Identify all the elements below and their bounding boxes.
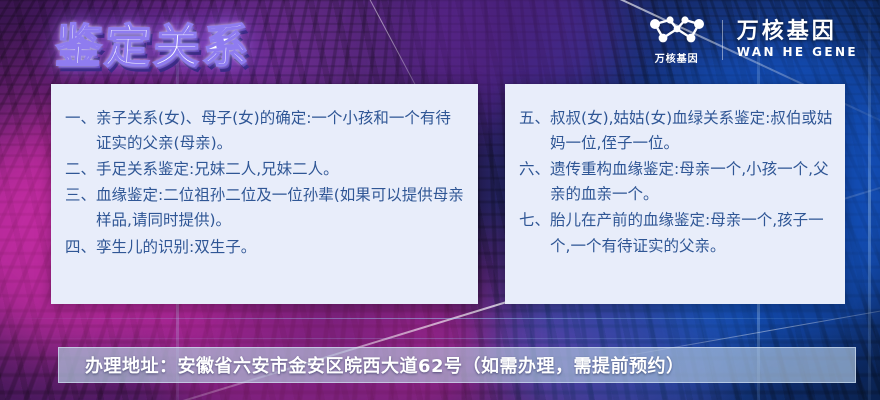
list-item-text: 血缘鉴定:二位祖孙二位及一位孙辈(如果可以提供母亲样品,请同时提供)。 — [96, 183, 466, 233]
light-beam-vertical-3 — [868, 0, 871, 400]
list-item-text: 孪生儿的识别:双生子。 — [96, 235, 466, 260]
list-item-number: 四、 — [65, 235, 96, 260]
list-item-number: 二、 — [65, 157, 96, 182]
list-item-text: 亲子关系(女)、母子(女)的确定:一个小孩和一个有待证实的父亲(母亲)。 — [96, 106, 466, 156]
list-item-text: 遗传重构血缘鉴定:母亲一个,小孩一个,父亲的血亲一个。 — [550, 157, 833, 207]
brand-mark: 万核基因 — [646, 14, 708, 65]
list-item: 一、 亲子关系(女)、母子(女)的确定:一个小孩和一个有待证实的父亲(母亲)。 — [65, 106, 466, 156]
relationship-list-left: 一、 亲子关系(女)、母子(女)的确定:一个小孩和一个有待证实的父亲(母亲)。 … — [65, 106, 466, 260]
molecule-network-icon — [646, 14, 708, 48]
list-item: 三、 血缘鉴定:二位祖孙二位及一位孙辈(如果可以提供母亲样品,请同时提供)。 — [65, 183, 466, 233]
poster-canvas: 鉴定关系 — [0, 0, 880, 400]
list-item-text: 手足关系鉴定:兄妹二人,兄妹二人。 — [96, 157, 466, 182]
list-item: 四、 孪生儿的识别:双生子。 — [65, 235, 466, 260]
list-item: 五、 叔叔(女),姑姑(女)血绿关系鉴定:叔伯或姑妈一位,侄子一位。 — [519, 106, 833, 156]
relationship-list-right: 五、 叔叔(女),姑姑(女)血绿关系鉴定:叔伯或姑妈一位,侄子一位。 六、 遗传… — [519, 106, 833, 259]
list-item-number: 五、 — [519, 106, 550, 131]
brand-divider — [722, 20, 723, 60]
list-item: 七、 胎儿在产前的血缘鉴定:母亲一个,孩子一个,一个有待证实的父亲。 — [519, 208, 833, 258]
page-title: 鉴定关系 — [54, 10, 255, 76]
brand-wordmark: 万核基因 WAN HE GENE — [737, 20, 858, 58]
list-item: 二、 手足关系鉴定:兄妹二人,兄妹二人。 — [65, 157, 466, 182]
list-item-text: 叔叔(女),姑姑(女)血绿关系鉴定:叔伯或姑妈一位,侄子一位。 — [550, 106, 833, 156]
list-item: 六、 遗传重构血缘鉴定:母亲一个,小孩一个,父亲的血亲一个。 — [519, 157, 833, 207]
brand-mark-label: 万核基因 — [655, 50, 699, 65]
light-beam-horizon-2 — [0, 338, 880, 339]
list-item-number: 六、 — [519, 157, 550, 182]
brand-logo: 万核基因 万核基因 WAN HE GENE — [646, 14, 858, 65]
address-text: 办理地址：安徽省六安市金安区皖西大道62号（如需办理，需提前预约） — [85, 352, 685, 378]
brand-name-cn: 万核基因 — [737, 20, 837, 44]
list-item-number: 一、 — [65, 106, 96, 131]
content-panel-right: 五、 叔叔(女),姑姑(女)血绿关系鉴定:叔伯或姑妈一位,侄子一位。 六、 遗传… — [505, 84, 845, 304]
list-item-number: 七、 — [519, 208, 550, 233]
list-item-text: 胎儿在产前的血缘鉴定:母亲一个,孩子一个,一个有待证实的父亲。 — [550, 208, 833, 258]
content-panel-left: 一、 亲子关系(女)、母子(女)的确定:一个小孩和一个有待证实的父亲(母亲)。 … — [51, 84, 478, 304]
brand-name-en: WAN HE GENE — [737, 46, 858, 59]
address-bar: 办理地址：安徽省六安市金安区皖西大道62号（如需办理，需提前预约） — [58, 347, 856, 383]
list-item-number: 三、 — [65, 183, 96, 208]
light-beam-horizon-1 — [0, 318, 880, 319]
